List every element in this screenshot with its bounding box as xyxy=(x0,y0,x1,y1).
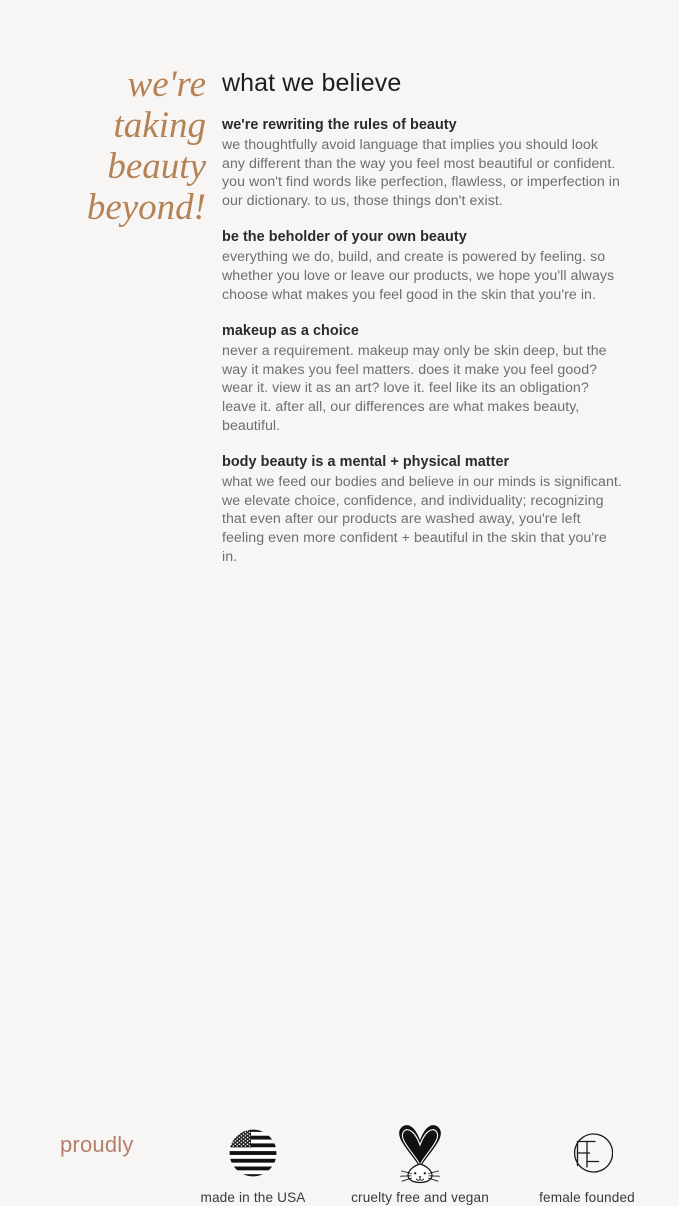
beliefs-content: what we believe we're rewriting the rule… xyxy=(222,68,632,566)
badge-cruelty-free-vegan: cruelty free and vegan xyxy=(337,1120,503,1206)
page-title: what we believe xyxy=(222,68,632,98)
belief-block-makeup-choice: makeup as a choice never a requirement. … xyxy=(222,322,632,435)
beliefs-page: we're taking beauty beyond! what we beli… xyxy=(0,0,679,679)
headline-line-1: we're xyxy=(56,64,206,105)
footer-section: proudly xyxy=(0,556,679,679)
badge-label: female founded xyxy=(539,1189,635,1206)
headline-line-3: beauty xyxy=(56,146,206,187)
belief-body: never a requirement. makeup may only be … xyxy=(222,342,622,435)
badge-female-founded: female founded xyxy=(504,1120,670,1206)
badge-label: made in the USA xyxy=(200,1189,305,1206)
belief-heading: we're rewriting the rules of beauty xyxy=(222,116,632,135)
badge-label: cruelty free and vegan xyxy=(351,1189,489,1206)
belief-heading: be the beholder of your own beauty xyxy=(222,228,632,247)
belief-body: what we feed our bodies and believe in o… xyxy=(222,473,622,566)
brand-headline: we're taking beauty beyond! xyxy=(56,64,206,228)
proudly-label: proudly xyxy=(60,1132,134,1158)
badge-made-in-usa: made in the USA xyxy=(170,1120,336,1206)
belief-body: everything we do, build, and create is p… xyxy=(222,248,622,304)
belief-block-rewriting-rules: we're rewriting the rules of beauty we t… xyxy=(222,116,632,210)
cruelty-free-bunny-icon xyxy=(392,1120,448,1186)
female-founded-monogram-icon xyxy=(561,1120,613,1186)
belief-body: we thoughtfully avoid language that impl… xyxy=(222,136,622,210)
badge-row: made in the USA xyxy=(170,1120,670,1206)
usa-flag-circle-icon xyxy=(228,1120,278,1186)
belief-heading: makeup as a choice xyxy=(222,322,632,341)
headline-line-2: taking xyxy=(56,105,206,146)
headline-line-4: beyond! xyxy=(56,187,206,228)
belief-block-body-beauty: body beauty is a mental + physical matte… xyxy=(222,453,632,566)
top-section: we're taking beauty beyond! what we beli… xyxy=(0,0,679,548)
belief-heading: body beauty is a mental + physical matte… xyxy=(222,453,632,472)
belief-block-beholder: be the beholder of your own beauty every… xyxy=(222,228,632,304)
